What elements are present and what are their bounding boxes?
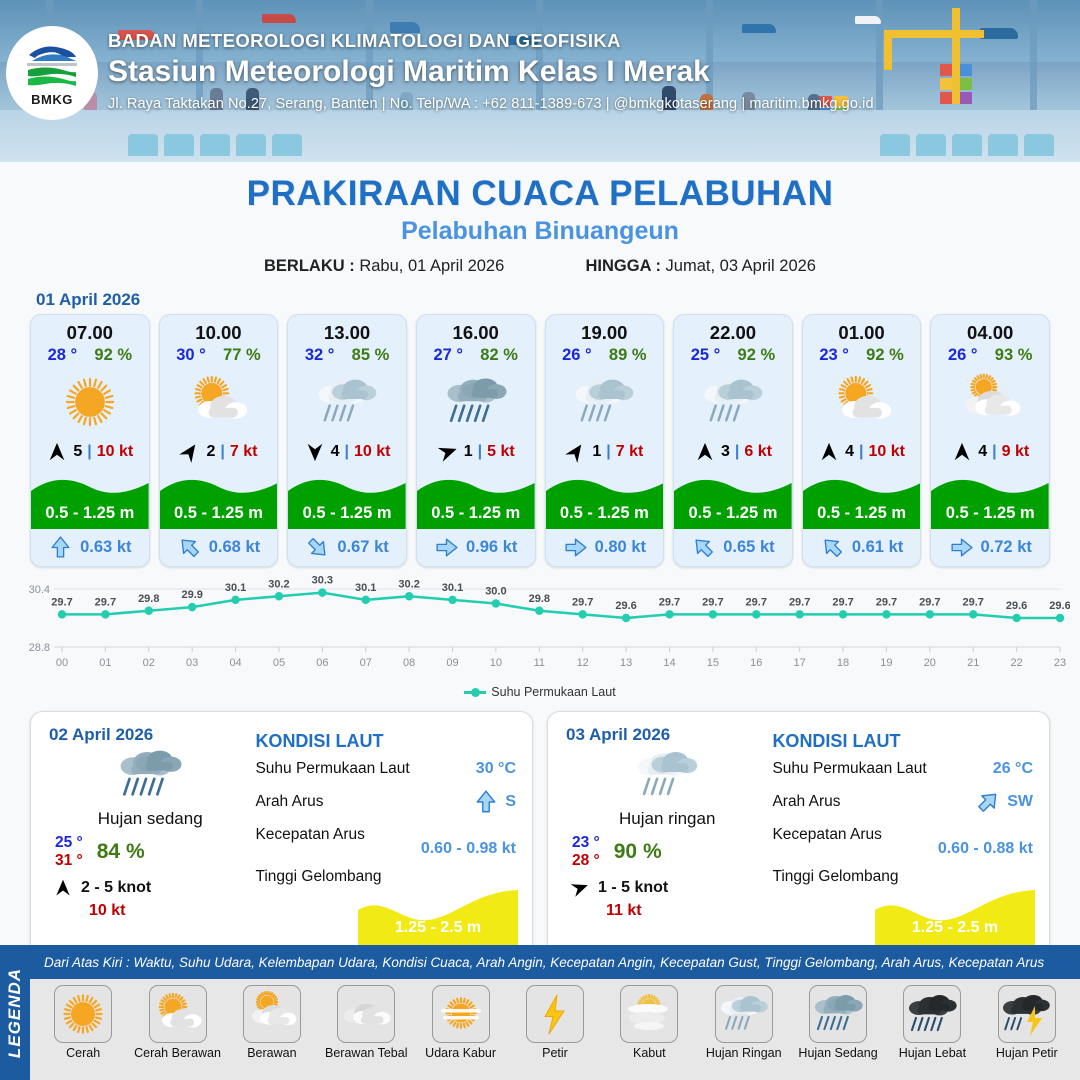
svg-text:13: 13 — [620, 657, 632, 669]
wave-height-value: 1.25 - 2.5 m — [358, 919, 518, 937]
card-time: 04.00 — [931, 315, 1049, 344]
sst-label: Suhu Permukaan Laut — [255, 760, 409, 778]
legend-item-label: Udara Kabur — [425, 1047, 496, 1061]
card-wave-band: 0.5 - 1.25 m — [674, 473, 792, 529]
legend-item: Berawan — [228, 985, 316, 1061]
card-weather-icon — [931, 365, 1049, 439]
card-wind-speed: 5 — [73, 443, 82, 461]
forecast-card: 13.00 32 ° 85 % 4 | 10 kt 0.5 - 1.25 m — [287, 314, 407, 567]
legend-section: LEGENDA Dari Atas Kiri : Waktu, Suhu Uda… — [0, 945, 1080, 1080]
sea-conditions: KONDISI LAUT Suhu Permukaan Laut 30 °C A… — [251, 712, 532, 960]
card-current: 0.72 kt — [931, 529, 1049, 566]
svg-text:03: 03 — [186, 657, 198, 669]
card-wave-band: 0.5 - 1.25 m — [931, 473, 1049, 529]
day-date: 03 April 2026 — [566, 725, 768, 745]
svg-text:06: 06 — [316, 657, 328, 669]
sst-label: Suhu Permukaan Laut — [772, 760, 926, 778]
card-current: 0.68 kt — [160, 529, 278, 566]
card-wave-height: 0.5 - 1.25 m — [288, 504, 406, 523]
card-wind-sep: | — [606, 443, 610, 461]
current-direction-value-group: S — [473, 789, 516, 815]
card-temperature: 32 ° — [305, 346, 335, 365]
card-gust: 10 kt — [869, 443, 905, 461]
weather-icon-hujan-ringan — [573, 371, 635, 433]
card-wind-speed: 1 — [592, 443, 601, 461]
chart-legend-marker — [464, 691, 486, 694]
card-gust: 10 kt — [354, 443, 390, 461]
card-current-speed: 0.72 kt — [981, 538, 1032, 557]
card-current: 0.63 kt — [31, 529, 149, 566]
card-gust: 6 kt — [744, 443, 772, 461]
bmkg-logo-text: BMKG — [31, 92, 73, 107]
svg-text:29.7: 29.7 — [659, 596, 680, 608]
day-condition: Hujan sedang — [49, 809, 251, 829]
weather-icon-kabut — [624, 989, 674, 1039]
day-temp-max: 31 ° — [55, 852, 83, 870]
day-summary: 02 April 2026 Hujan sedang 25 ° 31 ° 84 … — [31, 712, 251, 960]
bmkg-logo-mark — [23, 39, 81, 91]
day-temp-max: 28 ° — [572, 852, 600, 870]
svg-text:30.3: 30.3 — [312, 575, 333, 587]
card-weather-icon — [546, 365, 664, 439]
wind-direction-arrow — [570, 878, 590, 898]
svg-text:08: 08 — [403, 657, 415, 669]
card-gust: 9 kt — [1002, 443, 1030, 461]
legend-side-text: LEGENDA — [5, 967, 25, 1057]
svg-text:05: 05 — [273, 657, 285, 669]
card-wave-height: 0.5 - 1.25 m — [931, 504, 1049, 523]
sst-chart: 30.428.829.70029.70129.80229.90330.10430… — [10, 575, 1070, 683]
card-gust: 5 kt — [487, 443, 515, 461]
card-wind: 4 | 9 kt — [931, 439, 1049, 467]
card-current-speed: 0.68 kt — [209, 538, 260, 557]
card-weather-icon — [160, 365, 278, 439]
card-humidity: 93 % — [995, 346, 1033, 365]
legend-item: Berawan Tebal — [322, 985, 410, 1061]
forecast-card: 07.00 28 ° 92 % 5 | 10 kt 0.5 - 1.25 m 0… — [30, 314, 150, 567]
svg-text:30.2: 30.2 — [398, 578, 419, 590]
card-wind-sep: | — [478, 443, 482, 461]
svg-text:29.7: 29.7 — [746, 596, 767, 608]
svg-text:20: 20 — [924, 657, 936, 669]
legend-item-label: Hujan Ringan — [706, 1047, 782, 1061]
day-wind: 2 - 5 knot — [49, 878, 251, 898]
svg-text:29.7: 29.7 — [832, 596, 853, 608]
current-direction-arrow — [473, 789, 499, 815]
card-wave-height: 0.5 - 1.25 m — [803, 504, 921, 523]
card-current-speed: 0.96 kt — [466, 538, 517, 557]
valid-from-value: Rabu, 01 April 2026 — [359, 257, 504, 275]
weather-icon-cerah — [59, 371, 121, 433]
hourly-forecast-row: 07.00 28 ° 92 % 5 | 10 kt 0.5 - 1.25 m 0… — [0, 314, 1080, 567]
day-wind: 1 - 5 knot — [566, 878, 768, 898]
card-wind-speed: 4 — [845, 443, 854, 461]
card-wind: 2 | 7 kt — [160, 439, 278, 467]
legend-icon-row: Cerah Cerah Berawan Berawan Berawan Teba… — [30, 979, 1080, 1080]
wind-direction-arrow — [694, 441, 716, 463]
card-current-speed: 0.67 kt — [337, 538, 388, 557]
current-direction-arrow — [975, 789, 1001, 815]
legend-item: Udara Kabur — [417, 985, 505, 1061]
card-wind-sep: | — [87, 443, 91, 461]
card-wave-band: 0.5 - 1.25 m — [803, 473, 921, 529]
card-wind: 3 | 6 kt — [674, 439, 792, 467]
card-time: 07.00 — [31, 315, 149, 344]
legend-icon-berawan-tebal — [337, 985, 395, 1043]
card-humidity: 85 % — [352, 346, 390, 365]
day-summary: 03 April 2026 Hujan ringan 23 ° 28 ° 90 … — [548, 712, 768, 960]
svg-text:22: 22 — [1010, 657, 1022, 669]
daily-forecast-row: 02 April 2026 Hujan sedang 25 ° 31 ° 84 … — [0, 699, 1080, 961]
legend-icon-hujan-lebat — [903, 985, 961, 1043]
wind-direction-arrow — [565, 441, 587, 463]
svg-text:00: 00 — [56, 657, 68, 669]
svg-text:23: 23 — [1054, 657, 1066, 669]
card-wind-speed: 4 — [978, 443, 987, 461]
sea-conditions: KONDISI LAUT Suhu Permukaan Laut 26 °C A… — [768, 712, 1049, 960]
card-current-speed: 0.61 kt — [852, 538, 903, 557]
daily-forecast-card: 03 April 2026 Hujan ringan 23 ° 28 ° 90 … — [547, 711, 1050, 961]
valid-until-label: HINGGA : — [585, 257, 660, 275]
legend-item-label: Cerah — [66, 1047, 100, 1061]
svg-text:29.8: 29.8 — [138, 593, 159, 605]
legend-item-label: Hujan Petir — [996, 1047, 1058, 1061]
day-weather-icon — [49, 743, 251, 807]
current-direction-value: S — [505, 793, 516, 811]
svg-text:14: 14 — [663, 657, 675, 669]
svg-text:09: 09 — [446, 657, 458, 669]
current-speed-label: Kecepatan Arus — [255, 826, 364, 844]
card-wind-speed: 2 — [206, 443, 215, 461]
legend-icon-kabut — [620, 985, 678, 1043]
card-weather-icon — [803, 365, 921, 439]
legend-item: Hujan Petir — [983, 985, 1071, 1061]
card-wave-height: 0.5 - 1.25 m — [31, 504, 149, 523]
card-temperature: 26 ° — [948, 346, 978, 365]
card-wind-speed: 4 — [331, 443, 340, 461]
svg-text:01: 01 — [99, 657, 111, 669]
svg-text:29.7: 29.7 — [572, 596, 593, 608]
card-wind-sep: | — [345, 443, 349, 461]
svg-text:07: 07 — [360, 657, 372, 669]
agency-name: BADAN METEOROLOGI KLIMATOLOGI DAN GEOFIS… — [108, 30, 874, 52]
card-weather-icon — [417, 365, 535, 439]
svg-text:17: 17 — [794, 657, 806, 669]
weather-icon-cerah-berawan — [187, 371, 249, 433]
forecast-card: 10.00 30 ° 77 % 2 | 7 kt 0.5 - 1.25 m — [159, 314, 279, 567]
daily-forecast-card: 02 April 2026 Hujan sedang 25 ° 31 ° 84 … — [30, 711, 533, 961]
card-current-speed: 0.80 kt — [595, 538, 646, 557]
chart-legend: Suhu Permukaan Laut — [0, 685, 1080, 699]
card-gust: 7 kt — [230, 443, 258, 461]
wind-direction-arrow — [951, 441, 973, 463]
legend-icon-berawan — [243, 985, 301, 1043]
card-wind: 1 | 7 kt — [546, 439, 664, 467]
card-wind-speed: 1 — [464, 443, 473, 461]
current-direction-arrow — [434, 535, 459, 560]
card-wave-height: 0.5 - 1.25 m — [160, 504, 278, 523]
card-time: 19.00 — [546, 315, 664, 344]
svg-text:15: 15 — [707, 657, 719, 669]
svg-text:02: 02 — [143, 657, 155, 669]
forecast-card: 16.00 27 ° 82 % 1 | 5 kt 0.5 - 1.25 m — [416, 314, 536, 567]
card-time: 22.00 — [674, 315, 792, 344]
card-current: 0.65 kt — [674, 529, 792, 566]
card-gust: 7 kt — [616, 443, 644, 461]
weather-icon-hujan-ringan — [702, 371, 764, 433]
svg-text:30.4: 30.4 — [29, 584, 50, 596]
legend-item-label: Petir — [542, 1047, 568, 1061]
legend-icon-petir — [526, 985, 584, 1043]
validity-row: BERLAKU : Rabu, 01 April 2026 HINGGA : J… — [0, 257, 1080, 276]
card-humidity: 92 % — [738, 346, 776, 365]
page-header: BMKG BADAN METEOROLOGI KLIMATOLOGI DAN G… — [0, 0, 1080, 162]
svg-text:21: 21 — [967, 657, 979, 669]
title-block: PRAKIRAAN CUACA PELABUHAN Pelabuhan Binu… — [0, 162, 1080, 276]
forecast-card: 19.00 26 ° 89 % 1 | 7 kt 0.5 - 1.25 m — [545, 314, 665, 567]
current-direction-label: Arah Arus — [255, 793, 323, 811]
card-time: 10.00 — [160, 315, 278, 344]
legend-item-label: Berawan — [247, 1047, 296, 1061]
card-humidity: 92 % — [94, 346, 132, 365]
legend-item-label: Cerah Berawan — [134, 1047, 221, 1061]
weather-icon-hujan-sedang — [118, 743, 182, 807]
day-humidity: 90 % — [614, 840, 662, 864]
card-time: 01.00 — [803, 315, 921, 344]
card-temperature: 28 ° — [48, 346, 78, 365]
svg-text:18: 18 — [837, 657, 849, 669]
card-wind: 4 | 10 kt — [288, 439, 406, 467]
card-wave-band: 0.5 - 1.25 m — [31, 473, 149, 529]
contact-info: Jl. Raya Taktakan No.27, Serang, Banten … — [108, 96, 874, 112]
svg-text:04: 04 — [229, 657, 241, 669]
card-humidity: 77 % — [223, 346, 261, 365]
day-temp-min: 23 ° — [572, 834, 600, 852]
svg-text:29.6: 29.6 — [615, 600, 636, 612]
svg-text:29.7: 29.7 — [789, 596, 810, 608]
wave-height-badge: 1.25 - 2.5 m — [875, 884, 1035, 946]
day-weather-icon — [566, 743, 768, 807]
wind-direction-arrow — [179, 441, 201, 463]
weather-icon-udara-kabur — [436, 989, 486, 1039]
legend-icon-hujan-petir — [998, 985, 1056, 1043]
legend-item: Hujan Sedang — [794, 985, 882, 1061]
card-wind-sep: | — [859, 443, 863, 461]
card-wind-sep: | — [220, 443, 224, 461]
svg-text:29.7: 29.7 — [702, 596, 723, 608]
day-temperatures: 25 ° 31 ° 84 % — [49, 834, 251, 870]
day-wind-range: 2 - 5 knot — [81, 879, 151, 897]
port-name: Pelabuhan Binuangeun — [0, 217, 1080, 246]
legend-item: Kabut — [605, 985, 693, 1061]
weather-icon-petir — [530, 989, 580, 1039]
current-speed-label: Kecepatan Arus — [772, 826, 881, 844]
legend-icon-cerah — [54, 985, 112, 1043]
valid-until-value: Jumat, 03 April 2026 — [666, 257, 816, 275]
card-weather-icon — [288, 365, 406, 439]
card-gust: 10 kt — [97, 443, 133, 461]
card-temperature: 27 ° — [433, 346, 463, 365]
card-wind-sep: | — [992, 443, 996, 461]
legend-caption: Dari Atas Kiri : Waktu, Suhu Udara, Kele… — [30, 945, 1080, 979]
card-weather-icon — [31, 365, 149, 439]
card-time: 13.00 — [288, 315, 406, 344]
card-wind-sep: | — [735, 443, 739, 461]
weather-icon-hujan-lebat — [907, 989, 957, 1039]
wind-direction-arrow — [46, 441, 68, 463]
svg-text:19: 19 — [880, 657, 892, 669]
svg-text:29.8: 29.8 — [529, 593, 550, 605]
card-wave-band: 0.5 - 1.25 m — [288, 473, 406, 529]
sea-conditions-title: KONDISI LAUT — [772, 731, 1033, 752]
day-condition: Hujan ringan — [566, 809, 768, 829]
forecast-card: 22.00 25 ° 92 % 3 | 6 kt 0.5 - 1.25 m — [673, 314, 793, 567]
bmkg-logo: BMKG — [6, 26, 98, 120]
card-current: 0.96 kt — [417, 529, 535, 566]
svg-text:29.7: 29.7 — [876, 596, 897, 608]
weather-icon-hujan-ringan — [316, 371, 378, 433]
legend-side-title: LEGENDA — [0, 945, 30, 1080]
legend-item-label: Hujan Lebat — [899, 1047, 966, 1061]
svg-text:29.7: 29.7 — [95, 596, 116, 608]
legend-item: Hujan Lebat — [888, 985, 976, 1061]
card-time: 16.00 — [417, 315, 535, 344]
svg-text:29.7: 29.7 — [919, 596, 940, 608]
weather-icon-hujan-ringan — [719, 989, 769, 1039]
current-direction-label: Arah Arus — [772, 793, 840, 811]
card-wind: 4 | 10 kt — [803, 439, 921, 467]
forecast-card: 04.00 26 ° 93 % 4 | 9 kt 0.5 - 1.25 m — [930, 314, 1050, 567]
day-gust: 11 kt — [606, 902, 768, 920]
svg-text:16: 16 — [750, 657, 762, 669]
forecast-card: 01.00 23 ° 92 % 4 | 10 kt 0.5 - 1.25 m — [802, 314, 922, 567]
weather-icon-cerah-berawan — [831, 371, 893, 433]
forecast-date-label: 01 April 2026 — [36, 290, 1080, 310]
weather-icon-hujan-sedang — [813, 989, 863, 1039]
legend-item-label: Hujan Sedang — [798, 1047, 877, 1061]
card-current: 0.80 kt — [546, 529, 664, 566]
svg-text:30.1: 30.1 — [355, 582, 376, 594]
sst-value: 30 °C — [476, 760, 516, 778]
wave-height-value: 1.25 - 2.5 m — [875, 919, 1035, 937]
legend-item-label: Kabut — [633, 1047, 666, 1061]
weather-icon-cerah-berawan — [153, 989, 203, 1039]
weather-icon-cerah — [58, 989, 108, 1039]
page-title: PRAKIRAAN CUACA PELABUHAN — [0, 174, 1080, 214]
legend-item: Cerah — [39, 985, 127, 1061]
card-wave-band: 0.5 - 1.25 m — [160, 473, 278, 529]
svg-text:30.2: 30.2 — [268, 578, 289, 590]
current-direction-arrow — [691, 535, 716, 560]
card-temperature: 30 ° — [176, 346, 206, 365]
chart-legend-label: Suhu Permukaan Laut — [491, 685, 615, 699]
weather-icon-berawan-tebal — [341, 989, 391, 1039]
legend-icon-udara-kabur — [432, 985, 490, 1043]
card-temperature: 25 ° — [691, 346, 721, 365]
svg-text:29.6: 29.6 — [1049, 600, 1070, 612]
card-weather-icon — [674, 365, 792, 439]
card-wave-band: 0.5 - 1.25 m — [417, 473, 535, 529]
legend-icon-hujan-ringan — [715, 985, 773, 1043]
weather-icon-hujan-sedang — [445, 371, 507, 433]
weather-icon-berawan — [247, 989, 297, 1039]
day-humidity: 84 % — [97, 840, 145, 864]
wind-direction-arrow — [304, 441, 326, 463]
valid-from-label: BERLAKU : — [264, 257, 355, 275]
current-direction-value-group: SW — [975, 789, 1033, 815]
card-humidity: 82 % — [480, 346, 518, 365]
card-wave-band: 0.5 - 1.25 m — [546, 473, 664, 529]
card-current-speed: 0.63 kt — [80, 538, 131, 557]
day-wind-range: 1 - 5 knot — [598, 879, 668, 897]
svg-text:28.8: 28.8 — [29, 642, 50, 654]
card-humidity: 92 % — [866, 346, 904, 365]
svg-text:29.7: 29.7 — [963, 596, 984, 608]
card-temperature: 23 ° — [819, 346, 849, 365]
card-wave-height: 0.5 - 1.25 m — [417, 504, 535, 523]
card-current: 0.61 kt — [803, 529, 921, 566]
current-direction-arrow — [949, 535, 974, 560]
legend-icon-cerah-berawan — [149, 985, 207, 1043]
wave-height-badge: 1.25 - 2.5 m — [358, 884, 518, 946]
card-wave-height: 0.5 - 1.25 m — [546, 504, 664, 523]
svg-text:30.1: 30.1 — [442, 582, 463, 594]
card-wave-height: 0.5 - 1.25 m — [674, 504, 792, 523]
legend-item-label: Berawan Tebal — [325, 1047, 407, 1061]
wind-direction-arrow — [818, 441, 840, 463]
day-temp-min: 25 ° — [55, 834, 83, 852]
svg-text:30.1: 30.1 — [225, 582, 246, 594]
day-temperatures: 23 ° 28 ° 90 % — [566, 834, 768, 870]
legend-item: Cerah Berawan — [134, 985, 222, 1061]
sea-conditions-title: KONDISI LAUT — [255, 731, 516, 752]
svg-text:12: 12 — [577, 657, 589, 669]
day-date: 02 April 2026 — [49, 725, 251, 745]
legend-item: Hujan Ringan — [700, 985, 788, 1061]
weather-icon-berawan — [959, 371, 1021, 433]
legend-item: Petir — [511, 985, 599, 1061]
current-direction-arrow — [305, 535, 330, 560]
current-direction-arrow — [820, 535, 845, 560]
weather-icon-hujan-petir — [1002, 989, 1052, 1039]
current-direction-arrow — [177, 535, 202, 560]
current-direction-arrow — [563, 535, 588, 560]
svg-text:29.7: 29.7 — [51, 596, 72, 608]
legend-icon-hujan-sedang — [809, 985, 867, 1043]
weather-icon-hujan-ringan — [635, 743, 699, 807]
card-current: 0.67 kt — [288, 529, 406, 566]
day-gust: 10 kt — [89, 902, 251, 920]
wind-direction-arrow — [437, 441, 459, 463]
station-name: Stasiun Meteorologi Maritim Kelas I Mera… — [108, 55, 874, 89]
svg-text:29.9: 29.9 — [181, 589, 202, 601]
card-wind: 5 | 10 kt — [31, 439, 149, 467]
card-wind-speed: 3 — [721, 443, 730, 461]
sst-value: 26 °C — [993, 760, 1033, 778]
current-direction-value: SW — [1007, 793, 1033, 811]
svg-text:30.0: 30.0 — [485, 586, 506, 598]
card-wind: 1 | 5 kt — [417, 439, 535, 467]
current-direction-arrow — [48, 535, 73, 560]
card-temperature: 26 ° — [562, 346, 592, 365]
card-humidity: 89 % — [609, 346, 647, 365]
svg-text:29.6: 29.6 — [1006, 600, 1027, 612]
svg-text:10: 10 — [490, 657, 502, 669]
card-current-speed: 0.65 kt — [723, 538, 774, 557]
wind-direction-arrow — [53, 878, 73, 898]
svg-text:11: 11 — [534, 657, 545, 669]
